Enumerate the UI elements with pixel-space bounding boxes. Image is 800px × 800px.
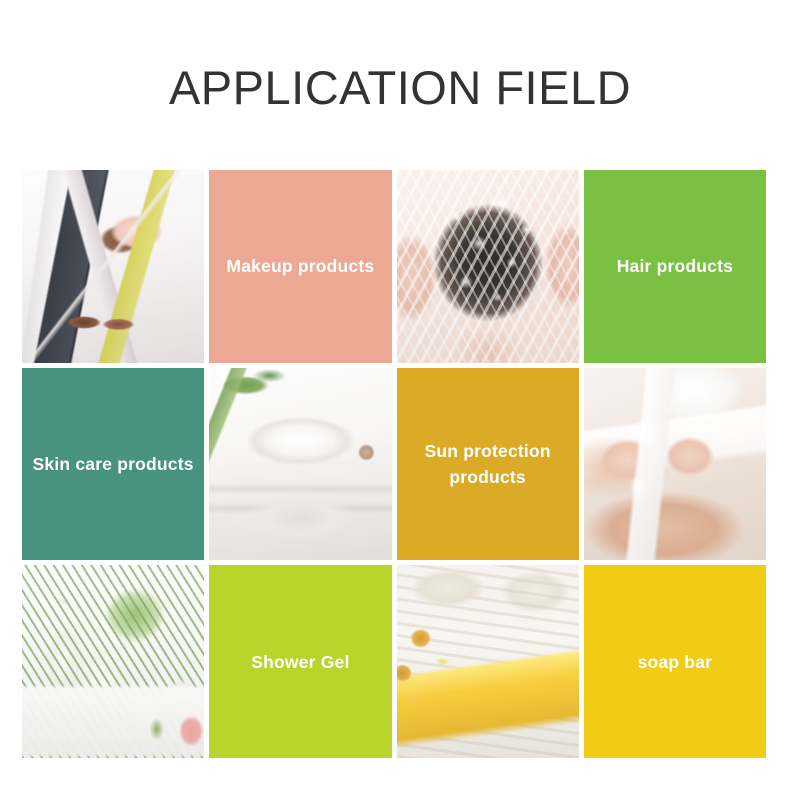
skin-care-products-label: Skin care products: [33, 451, 194, 477]
skin-care-products-tile[interactable]: Skin care products: [22, 368, 204, 561]
shower-gel-tile[interactable]: Shower Gel: [209, 565, 391, 758]
application-field-grid: Makeup products Hair products Skin care …: [22, 170, 766, 758]
hair-products-tile[interactable]: Hair products: [584, 170, 766, 363]
hair-washing-photo: [397, 170, 579, 363]
bath-bottles-photo: [22, 565, 204, 758]
sun-protection-products-tile[interactable]: Sun protection products: [397, 368, 579, 561]
hair-products-label: Hair products: [617, 253, 733, 279]
application-field-page: APPLICATION FIELD Makeup products Hair p…: [0, 0, 800, 800]
makeup-cosmetics-photo: [22, 170, 204, 363]
makeup-products-tile[interactable]: Makeup products: [209, 170, 391, 363]
page-title: APPLICATION FIELD: [0, 62, 800, 114]
soap-bar-tile[interactable]: soap bar: [584, 565, 766, 758]
cream-jar-photo: [209, 368, 391, 561]
soap-bar-photo: [397, 565, 579, 758]
shower-gel-label: Shower Gel: [251, 649, 349, 675]
makeup-products-label: Makeup products: [226, 253, 374, 279]
sun-protection-products-label: Sun protection products: [424, 438, 550, 490]
soap-bar-label: soap bar: [638, 649, 713, 675]
lotion-application-photo: [584, 368, 766, 561]
